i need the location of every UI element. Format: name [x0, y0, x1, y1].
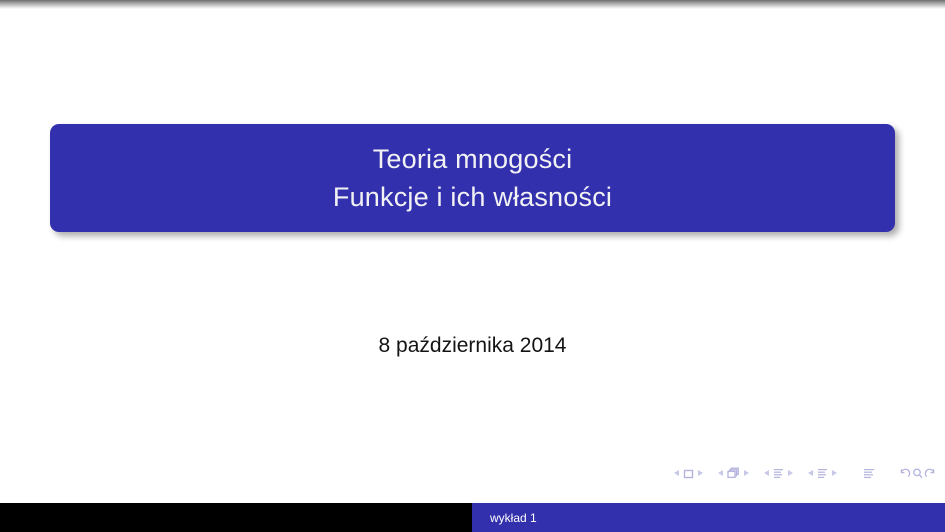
triangle-left-icon[interactable]: [674, 470, 679, 476]
footline-right-block: wykład 1: [472, 503, 945, 532]
slide-square-icon[interactable]: [682, 467, 695, 480]
footline-label: wykład 1: [490, 511, 537, 525]
frame-stack-icon[interactable]: [726, 466, 741, 480]
title-line-1: Teoria mnogości: [373, 140, 573, 178]
subsection-navigation-group: [761, 467, 796, 480]
triangle-right-icon[interactable]: [744, 470, 749, 476]
title-line-2: Funkcje i ich własności: [333, 178, 612, 216]
top-shadow-strip: [0, 0, 945, 9]
triangle-left-icon[interactable]: [808, 470, 813, 476]
beamer-navigation-symbols: [671, 465, 937, 481]
triangle-right-icon[interactable]: [788, 470, 793, 476]
triangle-right-icon[interactable]: [698, 470, 703, 476]
subsection-lines-icon[interactable]: [772, 467, 785, 480]
footline-left-block: [0, 503, 472, 532]
document-lines-icon[interactable]: [862, 467, 876, 480]
presentation-date: 8 października 2014: [0, 334, 945, 358]
footline: wykład 1: [0, 503, 945, 532]
forward-arrow-icon[interactable]: [924, 467, 937, 480]
triangle-left-icon[interactable]: [718, 470, 723, 476]
section-lines-icon[interactable]: [816, 467, 829, 480]
back-arrow-icon[interactable]: [898, 467, 911, 480]
title-block: Teoria mnogości Funkcje i ich własności: [50, 124, 895, 232]
search-magnifier-icon[interactable]: [911, 467, 924, 480]
history-navigation-group: [898, 467, 937, 480]
triangle-left-icon[interactable]: [764, 470, 769, 476]
frame-navigation-group: [715, 466, 752, 480]
section-navigation-group: [805, 467, 840, 480]
title-box: Teoria mnogości Funkcje i ich własności: [50, 124, 895, 232]
slide-navigation-group: [671, 467, 706, 480]
slide-canvas: Teoria mnogości Funkcje i ich własności …: [0, 9, 945, 503]
triangle-right-icon[interactable]: [832, 470, 837, 476]
document-navigation-group: [862, 467, 876, 480]
